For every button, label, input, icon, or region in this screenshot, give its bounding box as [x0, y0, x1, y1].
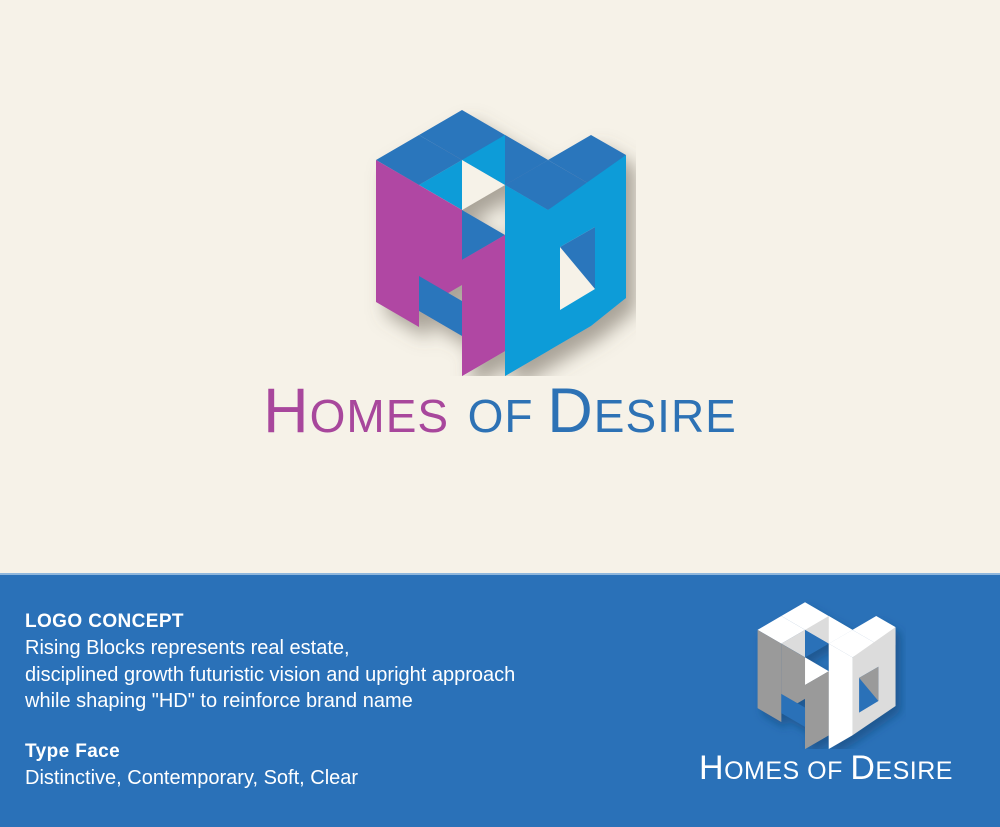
mono-wordmark-omes: OMES — [724, 757, 800, 785]
monochrome-wordmark: HOMES OF DESIRE — [676, 751, 976, 785]
wordmark-o — [449, 376, 468, 446]
concept-panel: LOGO CONCEPT Rising Blocks represents re… — [0, 573, 1000, 827]
mono-wordmark-esire: ESIRE — [875, 757, 953, 785]
mono-wordmark-h: H — [699, 749, 724, 787]
type-face-line-1: Distinctive, Contemporary, Soft, Clear — [25, 765, 515, 792]
wordmark-d: D — [547, 376, 594, 446]
isometric-hd-monogram-icon — [364, 86, 636, 376]
mono-wordmark-of: OF — [800, 757, 851, 785]
wordmark-omes: OMES — [310, 390, 449, 442]
logo-concept-heading: LOGO CONCEPT — [25, 611, 515, 633]
wordmark-of: OF — [468, 390, 548, 442]
logo-concept-line-3: while shaping "HD" to reinforce brand na… — [25, 688, 515, 715]
mono-wordmark-d: D — [850, 749, 875, 787]
logo-presentation-board: HOMES OF DESIRE LOGO CONCEPT Rising Bloc… — [0, 0, 1000, 827]
concept-copy-block: LOGO CONCEPT Rising Blocks represents re… — [25, 611, 515, 791]
type-face-heading: Type Face — [25, 741, 515, 763]
logo-concept-line-2: disciplined growth futuristic vision and… — [25, 662, 515, 689]
logo-showcase-area: HOMES OF DESIRE — [0, 0, 1000, 573]
monochrome-logo-lockup: HOMES OF DESIRE — [676, 589, 976, 785]
logo-concept-line-1: Rising Blocks represents real estate, — [25, 635, 515, 662]
section-spacer — [25, 715, 515, 741]
primary-wordmark: HOMES OF DESIRE — [0, 380, 1000, 443]
wordmark-esire: ESIRE — [594, 390, 737, 442]
isometric-hd-monogram-mono-icon — [746, 589, 906, 749]
wordmark-h: H — [263, 376, 310, 446]
primary-logo-lockup: HOMES OF DESIRE — [0, 86, 1000, 443]
